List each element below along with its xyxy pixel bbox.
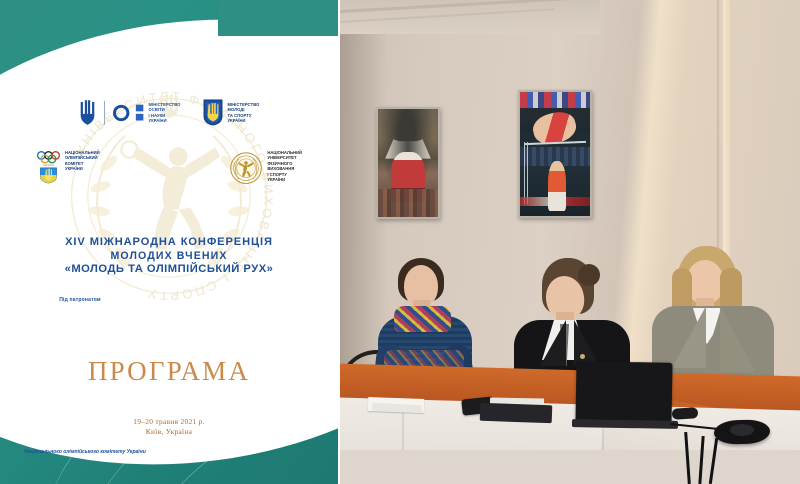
logo-national-university: НАЦІОНАЛЬНИЙ УНІВЕРСИТЕТ ФІЗИЧНОГО ВИХОВ… (229, 150, 302, 188)
top-logo-row: МІНІСТЕРСТВО ОСВІТИ І НАУКИ УКРАЇНИ МІНІ… (0, 99, 338, 126)
computer-mouse (672, 407, 699, 420)
conference-photograph (340, 0, 800, 484)
patronage-organisation: Національного олімпійського комітету Укр… (0, 449, 170, 484)
logo-ministry-of-youth-and-sport: МІНІСТЕРСТВО МОЛОДІ ТА СПОРТУ УКРАЇНИ (202, 99, 260, 126)
mon-squares-icon (135, 103, 145, 123)
logo-label-noc: НАЦІОНАЛЬНИЙ ОЛІМПІЙСЬКИЙ КОМІТЕТ УКРАЇН… (65, 150, 100, 172)
poster-top-teal-band (218, 0, 338, 36)
event-details: 19–20 травня 2021 р. Київ, Україна (0, 417, 338, 437)
document-type-heading: ПРОГРАМА (0, 356, 338, 387)
floor (340, 450, 800, 484)
event-dates: 19–20 травня 2021 р. (0, 417, 338, 427)
framed-photo-poles (524, 142, 530, 204)
title-line-1: XIV МІЖНАРОДНА КОНФЕРЕНЦІЯ (0, 236, 338, 250)
logo-label-university: НАЦІОНАЛЬНИЙ УНІВЕРСИТЕТ ФІЗИЧНОГО ВИХОВ… (267, 150, 302, 182)
framed-photo-crowd (378, 189, 438, 217)
screenshot-root: УНІВЕРСИТЕТ ФІЗИЧНОГО ВИХОВАННЯ І СПОРТУ (0, 0, 800, 484)
logo-label-youth-sport: МІНІСТЕРСТВО МОЛОДІ ТА СПОРТУ УКРАЇНИ (228, 102, 260, 122)
patronage-block: Під патронатом Національного олімпійсько… (0, 297, 338, 484)
framed-photo-stands (520, 92, 590, 108)
svg-text:УКРАЇНА: УКРАЇНА (43, 163, 54, 167)
ukraine-coat-of-arms-icon (202, 99, 224, 126)
ukraine-trident-icon (79, 100, 96, 126)
hair-bun (578, 264, 600, 286)
logo-label-education: МІНІСТЕРСТВО ОСВІТИ І НАУКИ УКРАЇНИ (149, 102, 181, 122)
conference-title: XIV МІЖНАРОДНА КОНФЕРЕНЦІЯ МОЛОДИХ ВЧЕНИ… (0, 236, 338, 277)
framed-photo-athlete-lower (548, 161, 566, 211)
document-folder (480, 403, 553, 424)
speakerphone-grille (730, 424, 754, 436)
mon-circle-icon (113, 103, 131, 123)
logo-national-olympic-committee: УКРАЇНА НАЦІОНАЛЬНИЙ ОЛІМПІЙСЬКИЙ КОМІТЕ… (36, 150, 100, 188)
title-line-3: «МОЛОДЬ ТА ОЛІМПІЙСЬКИЙ РУХ» (0, 263, 338, 277)
dell-laptop (575, 361, 672, 425)
logo-divider (104, 101, 105, 125)
lapel-pin (580, 354, 585, 359)
framed-photo-pole-vaulter (518, 90, 592, 218)
olympic-rings-shield-icon: УКРАЇНА (36, 150, 61, 184)
university-seal-icon (229, 150, 263, 188)
framed-photo-cyclist (376, 107, 440, 219)
event-location: Київ, Україна (0, 427, 338, 437)
logo-ministry-of-education: МІНІСТЕРСТВО ОСВІТИ І НАУКИ УКРАЇНИ (79, 100, 181, 126)
patterned-scarf (394, 306, 451, 332)
middle-logo-row: УКРАЇНА НАЦІОНАЛЬНИЙ ОЛІМПІЙСЬКИЙ КОМІТЕ… (0, 150, 338, 188)
conference-programme-cover: УНІВЕРСИТЕТ ФІЗИЧНОГО ВИХОВАННЯ І СПОРТУ (0, 0, 338, 484)
title-line-2: МОЛОДИХ ВЧЕНИХ (0, 250, 338, 264)
